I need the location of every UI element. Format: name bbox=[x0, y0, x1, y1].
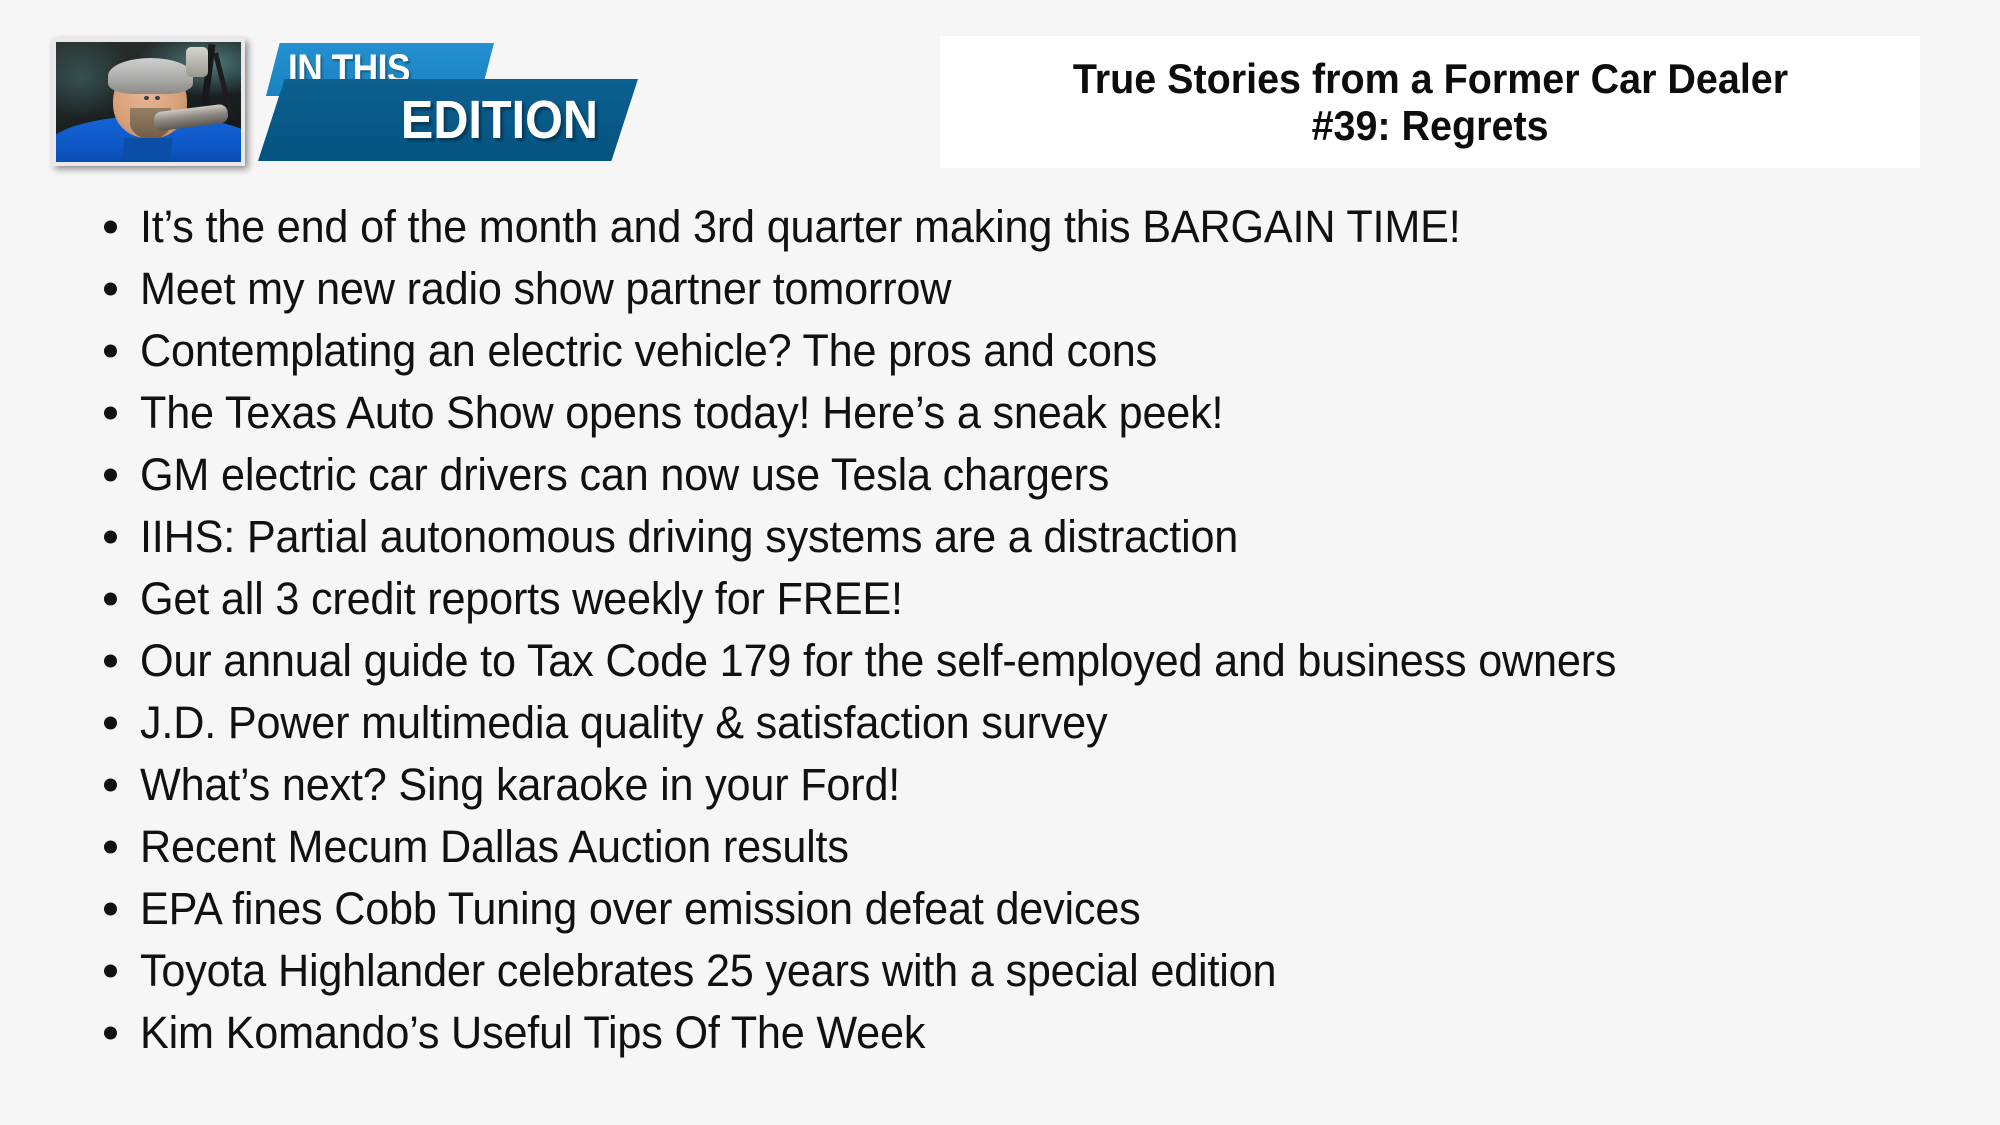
list-item: What’s next? Sing karaoke in your Ford! bbox=[74, 754, 1974, 816]
list-item: Our annual guide to Tax Code 179 for the… bbox=[74, 630, 1974, 692]
list-item-label: GM electric car drivers can now use Tesl… bbox=[140, 444, 1109, 506]
list-item: It’s the end of the month and 3rd quarte… bbox=[74, 196, 1974, 258]
list-item-label: It’s the end of the month and 3rd quarte… bbox=[140, 196, 1461, 258]
bullet-dot-icon bbox=[104, 965, 117, 978]
bullet-dot-icon bbox=[104, 717, 117, 730]
bullet-dot-icon bbox=[104, 407, 117, 420]
list-item-label: Get all 3 credit reports weekly for FREE… bbox=[140, 568, 903, 630]
list-item-label: J.D. Power multimedia quality & satisfac… bbox=[140, 692, 1107, 754]
microphone-shock-mount bbox=[186, 47, 208, 77]
bullet-dot-icon bbox=[104, 779, 117, 792]
title-card: True Stories from a Former Car Dealer #3… bbox=[940, 36, 1920, 168]
bullet-dot-icon bbox=[104, 841, 117, 854]
list-item: Recent Mecum Dallas Auction results bbox=[74, 816, 1974, 878]
bullet-dot-icon bbox=[104, 531, 117, 544]
photo-eye-right bbox=[155, 96, 160, 100]
list-item-label: Recent Mecum Dallas Auction results bbox=[140, 816, 849, 878]
list-item-label: IIHS: Partial autonomous driving systems… bbox=[140, 506, 1238, 568]
list-item-label: Toyota Highlander celebrates 25 years wi… bbox=[140, 940, 1276, 1002]
list-item-label: Our annual guide to Tax Code 179 for the… bbox=[140, 630, 1616, 692]
list-item: Get all 3 credit reports weekly for FREE… bbox=[74, 568, 1974, 630]
edition-contents-list: It’s the end of the month and 3rd quarte… bbox=[74, 196, 1974, 1064]
bullet-dot-icon bbox=[104, 903, 117, 916]
photo-eye-left bbox=[144, 96, 149, 100]
bullet-dot-icon bbox=[104, 345, 117, 358]
title-line-1: True Stories from a Former Car Dealer bbox=[1072, 55, 1787, 102]
photo-shirt-collar bbox=[121, 138, 172, 162]
bullet-dot-icon bbox=[104, 1027, 117, 1040]
bullet-dot-icon bbox=[104, 283, 117, 296]
list-item-label: Meet my new radio show partner tomorrow bbox=[140, 258, 951, 320]
list-item-label: Kim Komando’s Useful Tips Of The Week bbox=[140, 1002, 925, 1064]
list-item: Toyota Highlander celebrates 25 years wi… bbox=[74, 940, 1974, 1002]
list-item-label: EPA fines Cobb Tuning over emission defe… bbox=[140, 878, 1141, 940]
bullet-dot-icon bbox=[104, 469, 117, 482]
list-item: EPA fines Cobb Tuning over emission defe… bbox=[74, 878, 1974, 940]
banner-edition: EDITION bbox=[258, 79, 638, 161]
host-photo bbox=[52, 38, 245, 166]
list-item-label: Contemplating an electric vehicle? The p… bbox=[140, 320, 1157, 382]
list-item: Meet my new radio show partner tomorrow bbox=[74, 258, 1974, 320]
bullet-dot-icon bbox=[104, 221, 117, 234]
list-item: The Texas Auto Show opens today! Here’s … bbox=[74, 382, 1974, 444]
list-item: Contemplating an electric vehicle? The p… bbox=[74, 320, 1974, 382]
photo-hair bbox=[108, 58, 193, 94]
list-item: GM electric car drivers can now use Tesl… bbox=[74, 444, 1974, 506]
list-item-label: The Texas Auto Show opens today! Here’s … bbox=[140, 382, 1223, 444]
list-item-label: What’s next? Sing karaoke in your Ford! bbox=[140, 754, 900, 816]
list-item: IIHS: Partial autonomous driving systems… bbox=[74, 506, 1974, 568]
list-item: Kim Komando’s Useful Tips Of The Week bbox=[74, 1002, 1974, 1064]
title-line-2: #39: Regrets bbox=[1312, 102, 1549, 149]
bullet-dot-icon bbox=[104, 593, 117, 606]
bullet-dot-icon bbox=[104, 655, 117, 668]
list-item: J.D. Power multimedia quality & satisfac… bbox=[74, 692, 1974, 754]
banner-edition-label: EDITION bbox=[401, 89, 598, 151]
header: IN THIS EDITION True Stories from a Form… bbox=[0, 0, 2000, 185]
